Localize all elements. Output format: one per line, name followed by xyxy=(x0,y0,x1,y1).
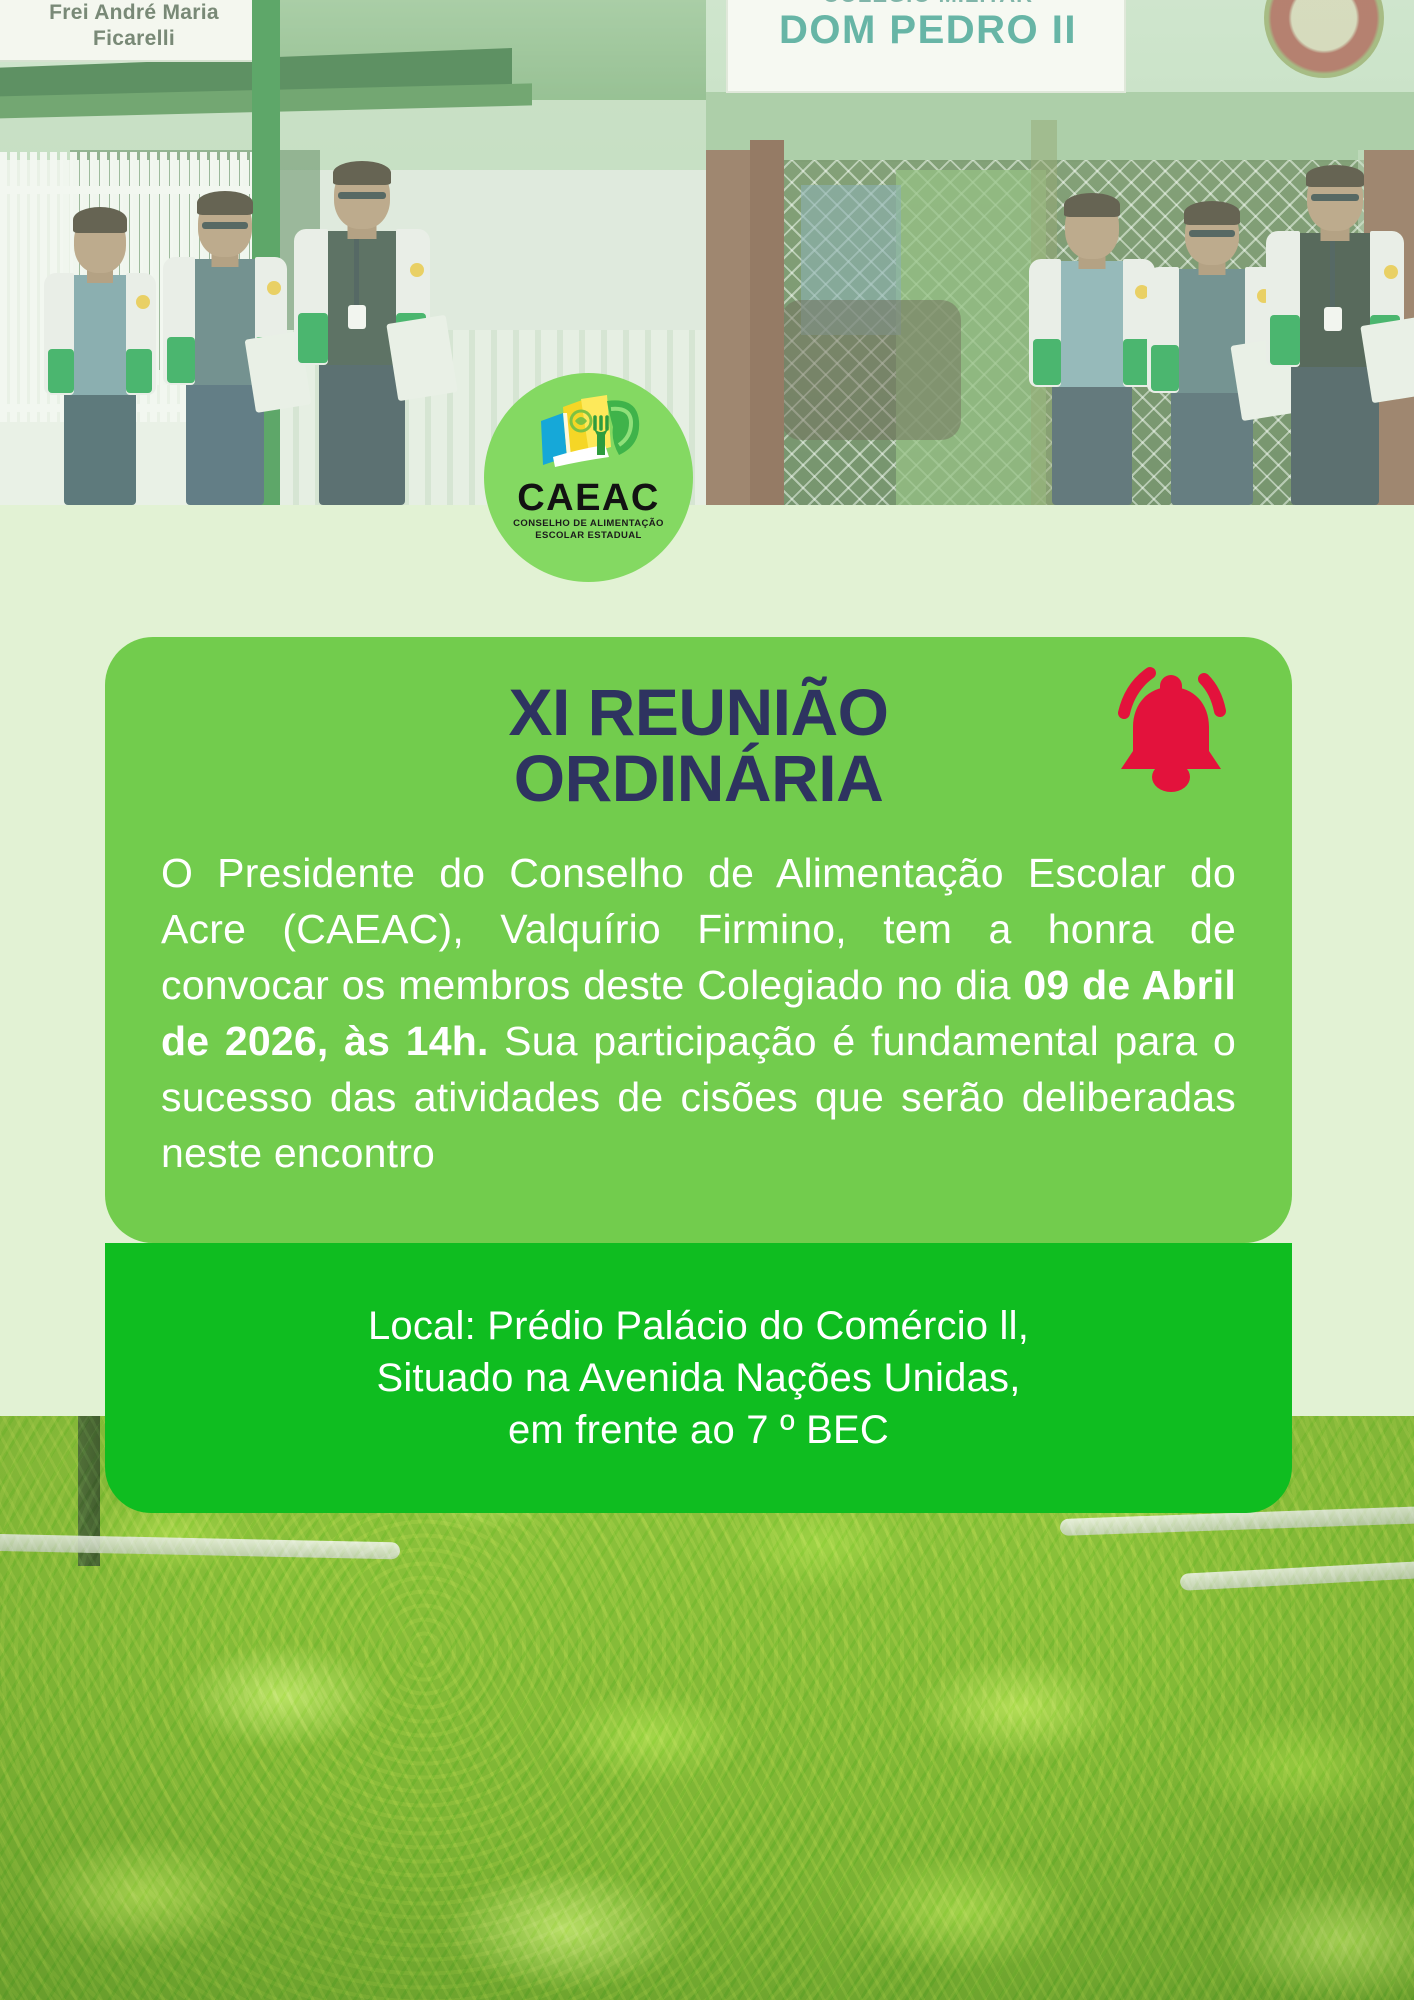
caeac-logo-badge: CAEAC CONSELHO DE ALIMENTAÇÃO ESCOLAR ES… xyxy=(484,373,693,582)
caeac-subtitle-line2: ESCOLAR ESTADUAL xyxy=(535,530,642,541)
announcement-card: XI REUNIÃO ORDINÁRIA O Presidente do Con… xyxy=(105,637,1292,1243)
person-photo-right-2 xyxy=(1144,195,1280,505)
person-photo-right-1 xyxy=(1026,185,1158,505)
poster-root: Frei André Maria Ficarelli xyxy=(0,0,1414,2000)
id-badge xyxy=(348,305,366,329)
person-photo-left-1 xyxy=(40,205,160,505)
footer-line-1: Local: Prédio Palácio do Comércio ll, xyxy=(368,1300,1029,1352)
photo-military-school-right: COLEGIO MILITAR DOM PEDRO II xyxy=(706,0,1414,505)
caeac-mark-icon xyxy=(533,391,645,477)
title-line-1: XI REUNIÃO xyxy=(508,675,888,749)
location-footer-card: Local: Prédio Palácio do Comércio ll, Si… xyxy=(105,1243,1292,1513)
caeac-subtitle-line1: CONSELHO DE ALIMENTAÇÃO xyxy=(513,518,664,529)
title-line-2: ORDINÁRIA xyxy=(161,745,1236,811)
right-photo-sign-line2: DOM PEDRO II xyxy=(728,8,1128,53)
footer-line-2: Situado na Avenida Nações Unidas, xyxy=(376,1352,1020,1404)
left-photo-sign-line1: Frei André Maria xyxy=(0,0,274,26)
person-photo-right-3 xyxy=(1264,155,1406,505)
notification-bell-icon xyxy=(1096,659,1246,795)
person-photo-left-3 xyxy=(292,153,432,505)
left-photo-sign-line2: Ficarelli xyxy=(0,26,274,52)
page-title: XI REUNIÃO ORDINÁRIA xyxy=(161,637,1236,811)
footer-line-3: em frente ao 7 º BEC xyxy=(508,1404,889,1456)
announcement-body: O Presidente do Conselho de Alimentação … xyxy=(161,845,1236,1181)
id-badge xyxy=(1324,307,1342,331)
person-photo-left-2 xyxy=(160,185,290,505)
right-photo-sign: COLEGIO MILITAR DOM PEDRO II xyxy=(726,0,1126,93)
right-photo-sign-line1: COLEGIO MILITAR xyxy=(728,0,1128,8)
top-photo-strip: Frei André Maria Ficarelli xyxy=(0,0,1414,505)
caeac-acronym: CAEAC xyxy=(517,479,660,517)
